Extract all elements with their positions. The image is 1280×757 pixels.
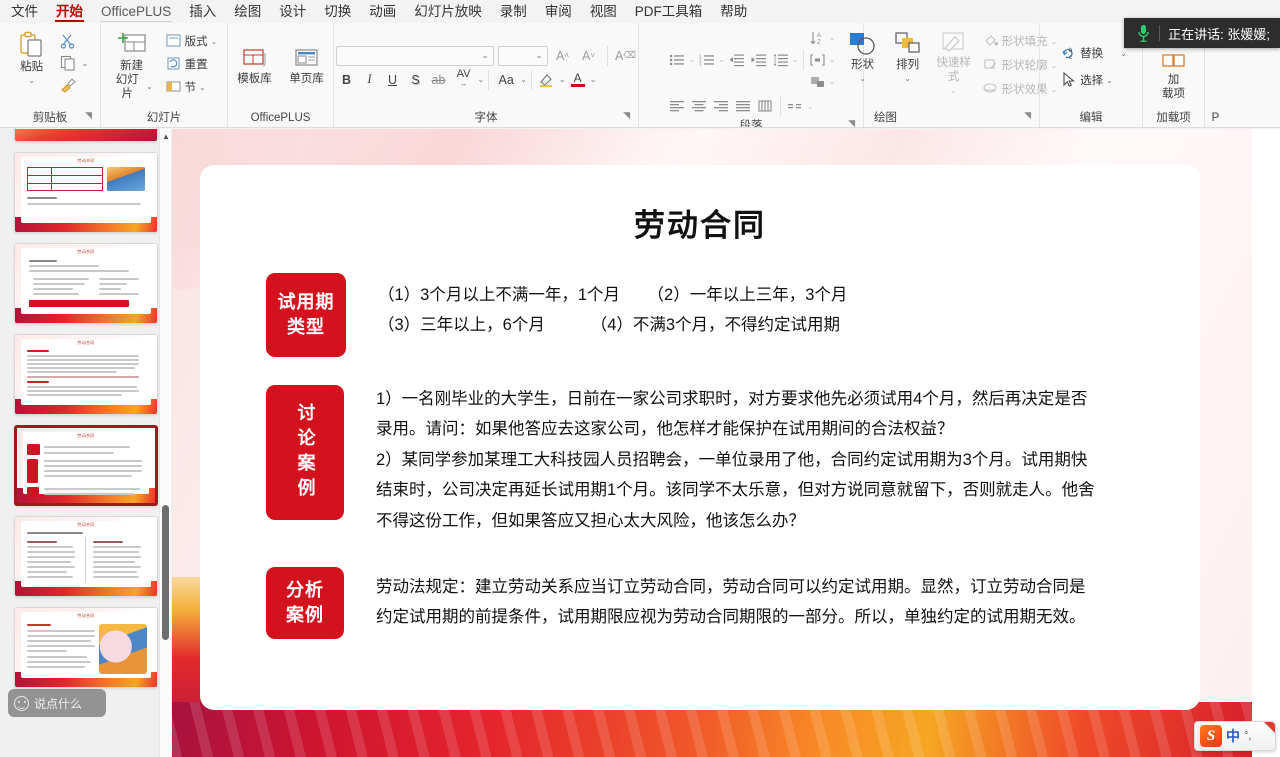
new-slide-button[interactable]: 新建 幻灯片 ⌄: [107, 28, 157, 103]
align-text-button[interactable]: [808, 50, 829, 69]
tag-discussion-case[interactable]: 讨论案例: [266, 385, 344, 520]
ribbon-group-officeplus: 模板库 单页库 OfficePLUS: [227, 23, 333, 128]
truncated-group-label: P: [1211, 108, 1220, 128]
list-item[interactable]: 劳动合同: [14, 243, 158, 324]
slide-rows: 试用期 类型 （1）3个月以上不满一年，1个月 （2）一年以上三年，3个月 （3…: [266, 273, 1160, 667]
menu-tab-slideshow[interactable]: 幻灯片放映: [405, 0, 491, 23]
bold-button[interactable]: B: [336, 70, 358, 90]
slides-group-label: 幻灯片: [107, 108, 221, 128]
menu-tab-review[interactable]: 审阅: [536, 0, 581, 23]
arrange-icon: [891, 31, 925, 57]
row-text-discussion-case[interactable]: 1）一名刚毕业的大学生，日前在一家公司求职时，对方要求他先必须试用4个月，然后再…: [376, 385, 1095, 537]
strikethrough-button[interactable]: ab: [428, 70, 450, 90]
workspace: 劳动合同 劳动合同: [0, 129, 1280, 757]
numbered-list-button[interactable]: 123: [696, 50, 717, 69]
align-right-button[interactable]: [711, 97, 732, 116]
ime-punctuation-toggle[interactable]: °,: [1244, 730, 1251, 742]
font-color-button[interactable]: A: [567, 70, 589, 90]
shape-effects-icon: [983, 81, 999, 97]
layout-button[interactable]: 版式 ⌄: [162, 31, 222, 51]
text-line: 结束时，公司决定再延长试用期1个月。该同学不太乐意，但对方说同意就留下，否则就走…: [376, 476, 1095, 504]
powerpoint-window: 文件 开始 OfficePLUS 插入 绘图 设计 切换 动画 幻灯片放映 录制…: [0, 0, 1280, 757]
chevron-down-icon[interactable]: ⌄: [520, 75, 527, 84]
shapes-label: 形状: [851, 58, 874, 72]
select-label: 选择: [1080, 72, 1103, 88]
thumb-title: 劳动合同: [15, 249, 157, 255]
menu-tab-draw[interactable]: 绘图: [225, 0, 270, 23]
ribbon-group-font: ⌄ ⌄ A˄ A˅ A⌫ B I U S ab: [333, 23, 638, 128]
slide-editor[interactable]: 劳动合同 试用期 类型 （1）3个月以上不满一年，1个月: [172, 129, 1280, 757]
quick-styles-icon: [939, 31, 969, 55]
text-line: （1）3个月以上不满一年，1个月 （2）一年以上三年，3个月: [378, 281, 847, 309]
editing-group-label: 编辑: [1046, 108, 1136, 128]
tag-line-2: 案例: [286, 603, 324, 628]
current-slide[interactable]: 劳动合同 试用期 类型 （1）3个月以上不满一年，1个月: [172, 129, 1252, 757]
paragraph-dialog-launcher[interactable]: ◥: [848, 113, 855, 128]
bullet-list-button[interactable]: [667, 50, 688, 69]
text-line: （3）三年以上，6个月 （4）不满3个月，不得约定试用期: [378, 311, 847, 339]
select-button[interactable]: 选择 ⌄: [1057, 70, 1117, 90]
chevron-down-icon[interactable]: ⌄: [1120, 49, 1127, 58]
menu-tab-file[interactable]: 文件: [2, 0, 47, 23]
reset-icon: [166, 56, 182, 72]
highlight-icon: [538, 72, 555, 88]
chevron-down-icon[interactable]: ⌄: [904, 72, 911, 86]
row-text-probation-types[interactable]: （1）3个月以上不满一年，1个月 （2）一年以上三年，3个月 （3）三年以上，6…: [378, 273, 847, 342]
layout-icon: [166, 33, 182, 49]
menu-tab-insert[interactable]: 插入: [180, 0, 225, 23]
page-library-icon: [293, 47, 321, 71]
tag-text: 讨论案例: [293, 403, 318, 503]
paragraph-group-label: 段落 ◥: [645, 116, 857, 128]
svg-text:A: A: [817, 33, 821, 39]
chevron-down-icon[interactable]: ⌄: [559, 75, 566, 84]
addins-icon: [1159, 54, 1189, 72]
font-group-label: 字体 ◥: [340, 108, 632, 128]
align-center-button[interactable]: [689, 97, 710, 116]
ribbon-group-drawing: 形状 ⌄ 排列 ⌄: [863, 23, 1039, 128]
menu-tab-view[interactable]: 视图: [581, 0, 626, 23]
decrease-font-size-button[interactable]: A˅: [578, 46, 600, 66]
shapes-button[interactable]: 形状 ⌄: [842, 29, 884, 88]
layout-label: 版式: [185, 33, 208, 49]
chevron-down-icon[interactable]: ⌄: [82, 59, 89, 68]
shapes-icon: [846, 31, 880, 57]
list-item[interactable]: 劳动合同: [14, 334, 158, 415]
thumb-title: 劳动合同: [17, 433, 155, 439]
menu-bar: 文件 开始 OfficePLUS 插入 绘图 设计 切换 动画 幻灯片放映 录制…: [0, 0, 1280, 23]
underline-button[interactable]: U: [382, 70, 404, 90]
svg-text:Z: Z: [817, 40, 821, 45]
clipboard-group-label: 剪贴板 ◥: [6, 108, 94, 128]
paste-button[interactable]: 粘贴 ⌄: [12, 29, 52, 90]
text-highlight-button[interactable]: [536, 70, 558, 90]
cut-button[interactable]: [56, 31, 89, 51]
slide-thumbnail-pane[interactable]: 劳动合同 劳动合同: [0, 129, 172, 757]
paintbrush-icon: [60, 77, 76, 93]
reset-button[interactable]: 重置: [162, 54, 222, 74]
text-line: 劳动法规定：建立劳动关系应当订立劳动合同，劳动合同可以约定试用期。显然，订立劳动…: [376, 573, 1086, 601]
microphone-icon: [1136, 24, 1151, 43]
chevron-down-icon[interactable]: ⌄: [482, 51, 489, 60]
line-spacing-button[interactable]: [770, 50, 791, 69]
divider: [1159, 25, 1160, 41]
thumb-title: 劳动合同: [15, 613, 157, 619]
ime-corner-decoration: [1264, 722, 1275, 733]
new-slide-label-1: 新建: [120, 59, 143, 73]
thumb-illustration: [99, 624, 147, 674]
chevron-down-icon[interactable]: ⌄: [829, 33, 836, 42]
font-name-input[interactable]: ⌄: [336, 46, 494, 66]
chevron-down-icon[interactable]: ⌄: [28, 74, 35, 88]
list-item[interactable]: 劳动合同: [14, 607, 158, 688]
paste-icon: [19, 31, 45, 59]
list-item[interactable]: 劳动合同: [14, 152, 158, 233]
distribute-button[interactable]: [755, 97, 776, 116]
change-case-button[interactable]: Aa: [493, 70, 519, 90]
copy-button[interactable]: [56, 53, 80, 73]
divider: [531, 70, 532, 90]
svg-text:3: 3: [699, 61, 702, 66]
increase-indent-button[interactable]: [748, 50, 769, 69]
thumb-title: 劳动合同: [15, 340, 157, 346]
copy-icon: [60, 55, 76, 71]
text-shadow-button[interactable]: S: [405, 70, 427, 90]
row-text-analysis-case[interactable]: 劳动法规定：建立劳动关系应当订立劳动合同，劳动合同可以约定试用期。显然，订立劳动…: [376, 567, 1086, 634]
font-color-swatch: [571, 84, 585, 87]
replace-label: 替换: [1080, 45, 1103, 61]
quick-styles-label: 快速样式: [936, 56, 972, 84]
replace-button[interactable]: bc 替换 ⌄: [1057, 43, 1131, 63]
text-direction-button[interactable]: AZ: [808, 28, 829, 47]
list-item[interactable]: 劳动合同: [14, 425, 158, 506]
cursor-arrow-icon: [1061, 72, 1077, 88]
divider: [607, 46, 608, 66]
text-line: 录用。请问：如果他答应去这家公司，他怎样才能保护在试用期间的合法权益？: [376, 415, 1095, 443]
menu-tab-home[interactable]: 开始: [47, 0, 92, 23]
menu-tab-officeplus[interactable]: OfficePLUS: [92, 0, 180, 23]
text-line: 约定试用期的前提条件，试用期限应视为劳动合同期限的一部分。所以，单独约定的试用期…: [376, 603, 1086, 631]
drawing-group-label: 绘图 ◥: [870, 108, 1033, 128]
speaking-text: 正在讲话: 张媛媛;: [1168, 24, 1270, 43]
addins-label-1: 加: [1168, 73, 1180, 87]
thumb-title: 劳动合同: [15, 522, 157, 528]
font-dialog-launcher[interactable]: ◥: [623, 105, 630, 125]
thumbnail-scrollbar[interactable]: ▲: [159, 129, 171, 757]
reset-label: 重置: [185, 56, 208, 72]
paste-label: 粘贴: [20, 60, 43, 74]
menu-tab-record[interactable]: 录制: [491, 0, 536, 23]
slide-row-probation-types: 试用期 类型 （1）3个月以上不满一年，1个月 （2）一年以上三年，3个月 （3…: [266, 273, 1160, 357]
tag-line-2: 类型: [278, 315, 335, 340]
tag-analysis-case[interactable]: 分析 案例: [266, 567, 344, 639]
template-library-icon: [241, 47, 269, 71]
new-slide-label-2: 幻灯片: [111, 73, 144, 101]
page-library-button[interactable]: 单页库: [285, 45, 329, 88]
italic-button[interactable]: I: [359, 70, 381, 90]
chevron-down-icon[interactable]: ⌄: [536, 51, 543, 60]
quick-styles-button[interactable]: 快速样式 ⌄: [932, 29, 976, 100]
character-spacing-button[interactable]: AV↔: [451, 70, 477, 90]
scissors-icon: [60, 33, 76, 49]
officeplus-group-label: OfficePLUS: [234, 108, 327, 128]
menu-tab-animations[interactable]: 动画: [360, 0, 405, 23]
chevron-down-icon[interactable]: ⌄: [1106, 76, 1113, 85]
chevron-down-icon[interactable]: ⌄: [478, 75, 485, 84]
divider: [488, 70, 489, 90]
section-label: 节: [185, 79, 197, 95]
arrange-label: 排列: [896, 58, 919, 72]
list-item[interactable]: [14, 129, 158, 142]
chevron-down-icon[interactable]: ⌄: [807, 102, 814, 111]
template-library-label: 模板库: [237, 72, 272, 86]
thumb-title: 劳动合同: [15, 158, 157, 164]
ime-mode-toggle[interactable]: 中: [1226, 726, 1240, 746]
menu-tab-transitions[interactable]: 切换: [315, 0, 360, 23]
scrollbar-thumb[interactable]: [162, 505, 169, 640]
page-title[interactable]: 劳动合同: [200, 200, 1200, 245]
columns-button[interactable]: [785, 97, 806, 116]
slide-row-discussion-case: 讨论案例 1）一名刚毕业的大学生，日前在一家公司求职时，对方要求他先必须试用4个…: [266, 385, 1160, 537]
shape-fill-icon: [983, 33, 999, 49]
speaking-toast[interactable]: 正在讲话: 张媛媛;: [1124, 18, 1280, 48]
say-something-label: 说点什么: [34, 695, 82, 712]
new-slide-icon: [117, 32, 147, 58]
chevron-down-icon[interactable]: ⌄: [829, 55, 836, 64]
tag-line-1: 分析: [286, 578, 324, 603]
chevron-down-icon[interactable]: ⌄: [718, 55, 725, 64]
chevron-down-icon[interactable]: ⌄: [211, 37, 218, 46]
format-painter-button[interactable]: [56, 75, 89, 95]
addins-button[interactable]: 加 载项: [1150, 52, 1198, 103]
section-icon: [166, 79, 182, 95]
scroll-up-arrow-icon[interactable]: ▲: [161, 131, 171, 141]
ribbon-group-clipboard: 粘贴 ⌄: [0, 23, 100, 128]
sogou-logo-icon[interactable]: S: [1200, 725, 1222, 747]
ribbon-group-paragraph: ⌄ 123 ⌄ ⌄: [638, 23, 863, 128]
chevron-down-icon[interactable]: ⌄: [146, 80, 153, 94]
clear-formatting-button[interactable]: A⌫: [615, 46, 637, 66]
replace-icon: bc: [1061, 45, 1077, 61]
tag-line-1: 试用期: [278, 290, 335, 315]
chevron-down-icon[interactable]: ⌄: [199, 83, 206, 92]
chevron-down-icon[interactable]: ⌄: [792, 55, 799, 64]
tag-probation-type[interactable]: 试用期 类型: [266, 273, 346, 357]
increase-font-size-button[interactable]: A˄: [552, 46, 574, 66]
ribbon: 粘贴 ⌄: [0, 23, 1280, 128]
smiley-icon: [14, 696, 29, 711]
chevron-down-icon[interactable]: ⌄: [859, 72, 866, 86]
text-line: 1）一名刚毕业的大学生，日前在一家公司求职时，对方要求他先必须试用4个月，然后再…: [376, 385, 1095, 413]
decrease-indent-button[interactable]: [726, 50, 747, 69]
drawing-dialog-launcher[interactable]: ◥: [1024, 105, 1031, 125]
clipboard-dialog-launcher[interactable]: ◥: [85, 105, 92, 125]
menu-tab-pdf-toolbox[interactable]: PDF工具箱: [626, 0, 712, 23]
slide-bottom-decoration: [172, 702, 1252, 757]
menu-tab-design[interactable]: 设计: [270, 0, 315, 23]
svg-text:c: c: [1069, 55, 1072, 61]
slide-row-analysis-case: 分析 案例 劳动法规定：建立劳动关系应当订立劳动合同，劳动合同可以约定试用期。显…: [266, 567, 1160, 639]
chevron-down-icon[interactable]: ⌄: [689, 55, 696, 64]
say-something-overlay[interactable]: 说点什么: [8, 689, 106, 717]
shape-outline-icon: [983, 57, 999, 73]
list-item[interactable]: 劳动合同: [14, 516, 158, 597]
divider: [803, 50, 804, 70]
section-button[interactable]: 节 ⌄: [162, 77, 222, 97]
template-library-button[interactable]: 模板库: [233, 45, 277, 88]
addins-group-label: 加载项: [1149, 108, 1198, 128]
ime-toolbar[interactable]: S 中 °,: [1194, 721, 1276, 751]
text-line: 2）某同学参加某理工大科技园人员招聘会，一单位录用了他，合同约定试用期为3个月。…: [376, 446, 1095, 474]
chevron-down-icon[interactable]: ⌄: [950, 84, 957, 98]
convert-to-smartart-button[interactable]: [808, 72, 829, 91]
page-library-label: 单页库: [289, 72, 324, 86]
chevron-down-icon[interactable]: ⌄: [590, 75, 597, 84]
menu-tab-help[interactable]: 帮助: [711, 0, 756, 23]
justify-button[interactable]: [733, 97, 754, 116]
text-line: 不得这份工作，但如果答应又担心太大风险，他该怎么办？: [376, 507, 1095, 535]
font-size-input[interactable]: ⌄: [498, 46, 548, 66]
addins-label-2: 载项: [1162, 87, 1185, 101]
divider: [780, 96, 781, 116]
align-left-button[interactable]: [667, 97, 688, 116]
chevron-down-icon[interactable]: ⌄: [829, 77, 836, 86]
font-color-letter: A: [574, 73, 582, 84]
ribbon-group-slides: 新建 幻灯片 ⌄ 版式: [100, 23, 227, 128]
arrange-button[interactable]: 排列 ⌄: [887, 29, 929, 88]
